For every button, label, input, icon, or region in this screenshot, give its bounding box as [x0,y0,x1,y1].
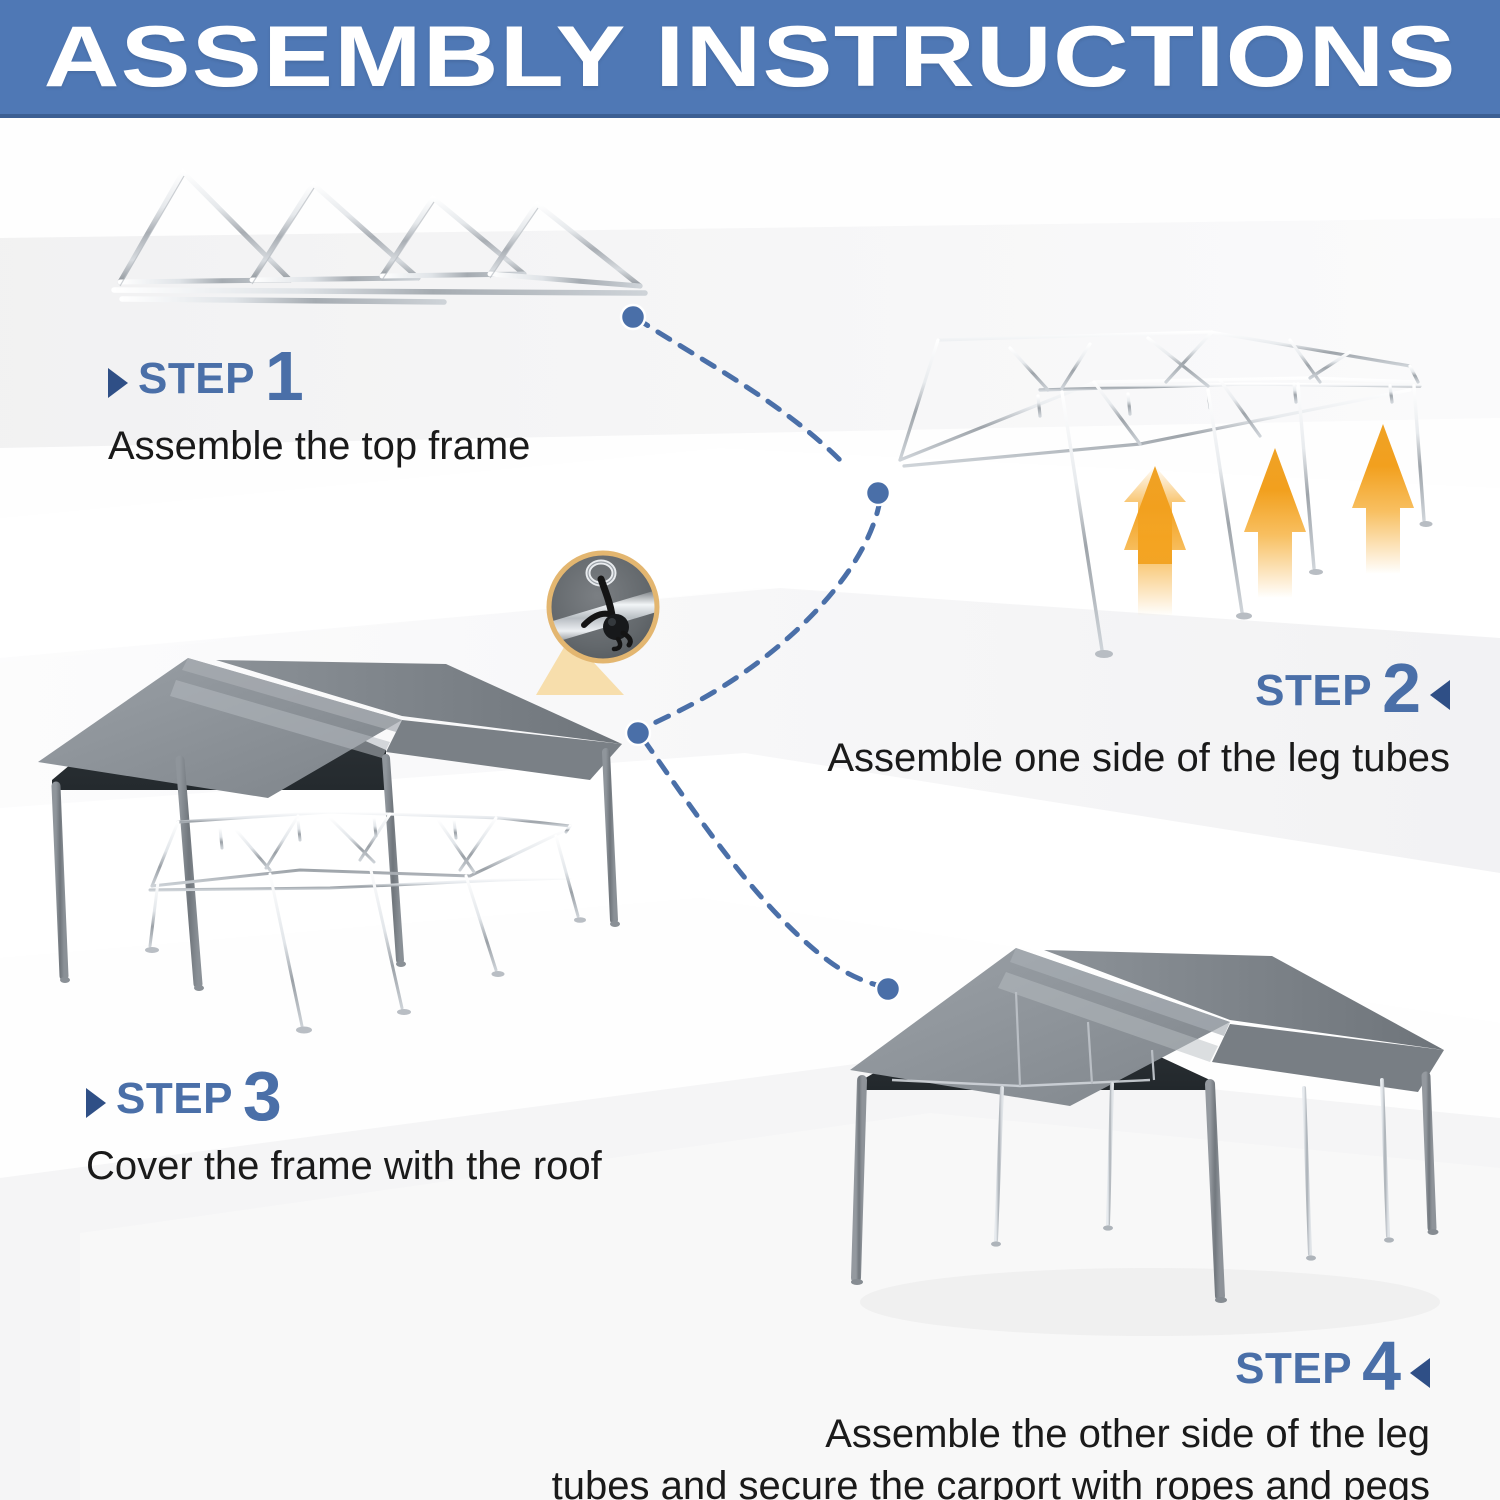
step-3-heading: STEP 3 [86,1068,602,1125]
step-1-number: 1 [265,348,303,405]
step-4-caption-line-2: tubes and secure the carport with ropes … [420,1461,1430,1500]
step-4-caption-line-1: Assemble the other side of the leg [420,1409,1430,1459]
step-4-number: 4 [1362,1338,1400,1395]
triangle-left-icon [1430,680,1450,710]
step-1-block: STEP 1 Assemble the top frame [108,348,530,471]
step-3-block: STEP 3 Cover the frame with the roof [86,1068,602,1191]
step-3-number: 3 [243,1068,281,1125]
step-1-heading: STEP 1 [108,348,530,405]
triangle-right-icon [108,368,128,398]
step-4-block: STEP 4 Assemble the other side of the le… [420,1338,1430,1500]
step-2-caption: Assemble one side of the leg tubes [440,733,1450,783]
illustration-completed-carport [820,930,1470,1340]
illustration-top-frame [100,160,670,330]
step-4-heading: STEP 4 [420,1338,1430,1395]
assembly-instructions-page: ASSEMBLY INSTRUCTIONS [0,0,1500,1500]
header-banner: ASSEMBLY INSTRUCTIONS [0,0,1500,118]
step-4-word: STEP [1235,1347,1352,1391]
step-2-number: 2 [1382,660,1420,717]
step-2-word: STEP [1255,669,1372,713]
step-3-caption: Cover the frame with the roof [86,1141,602,1191]
triangle-right-icon [86,1088,106,1118]
step-3-word: STEP [116,1077,233,1121]
step-2-heading: STEP 2 [440,660,1450,717]
illustration-frame-one-side-legs [890,320,1470,670]
triangle-left-icon [1410,1358,1430,1388]
step-1-caption: Assemble the top frame [108,421,530,471]
page-title: ASSEMBLY INSTRUCTIONS [43,14,1456,100]
step-1-word: STEP [138,357,255,401]
step-2-block: STEP 2 Assemble one side of the leg tube… [440,660,1450,783]
